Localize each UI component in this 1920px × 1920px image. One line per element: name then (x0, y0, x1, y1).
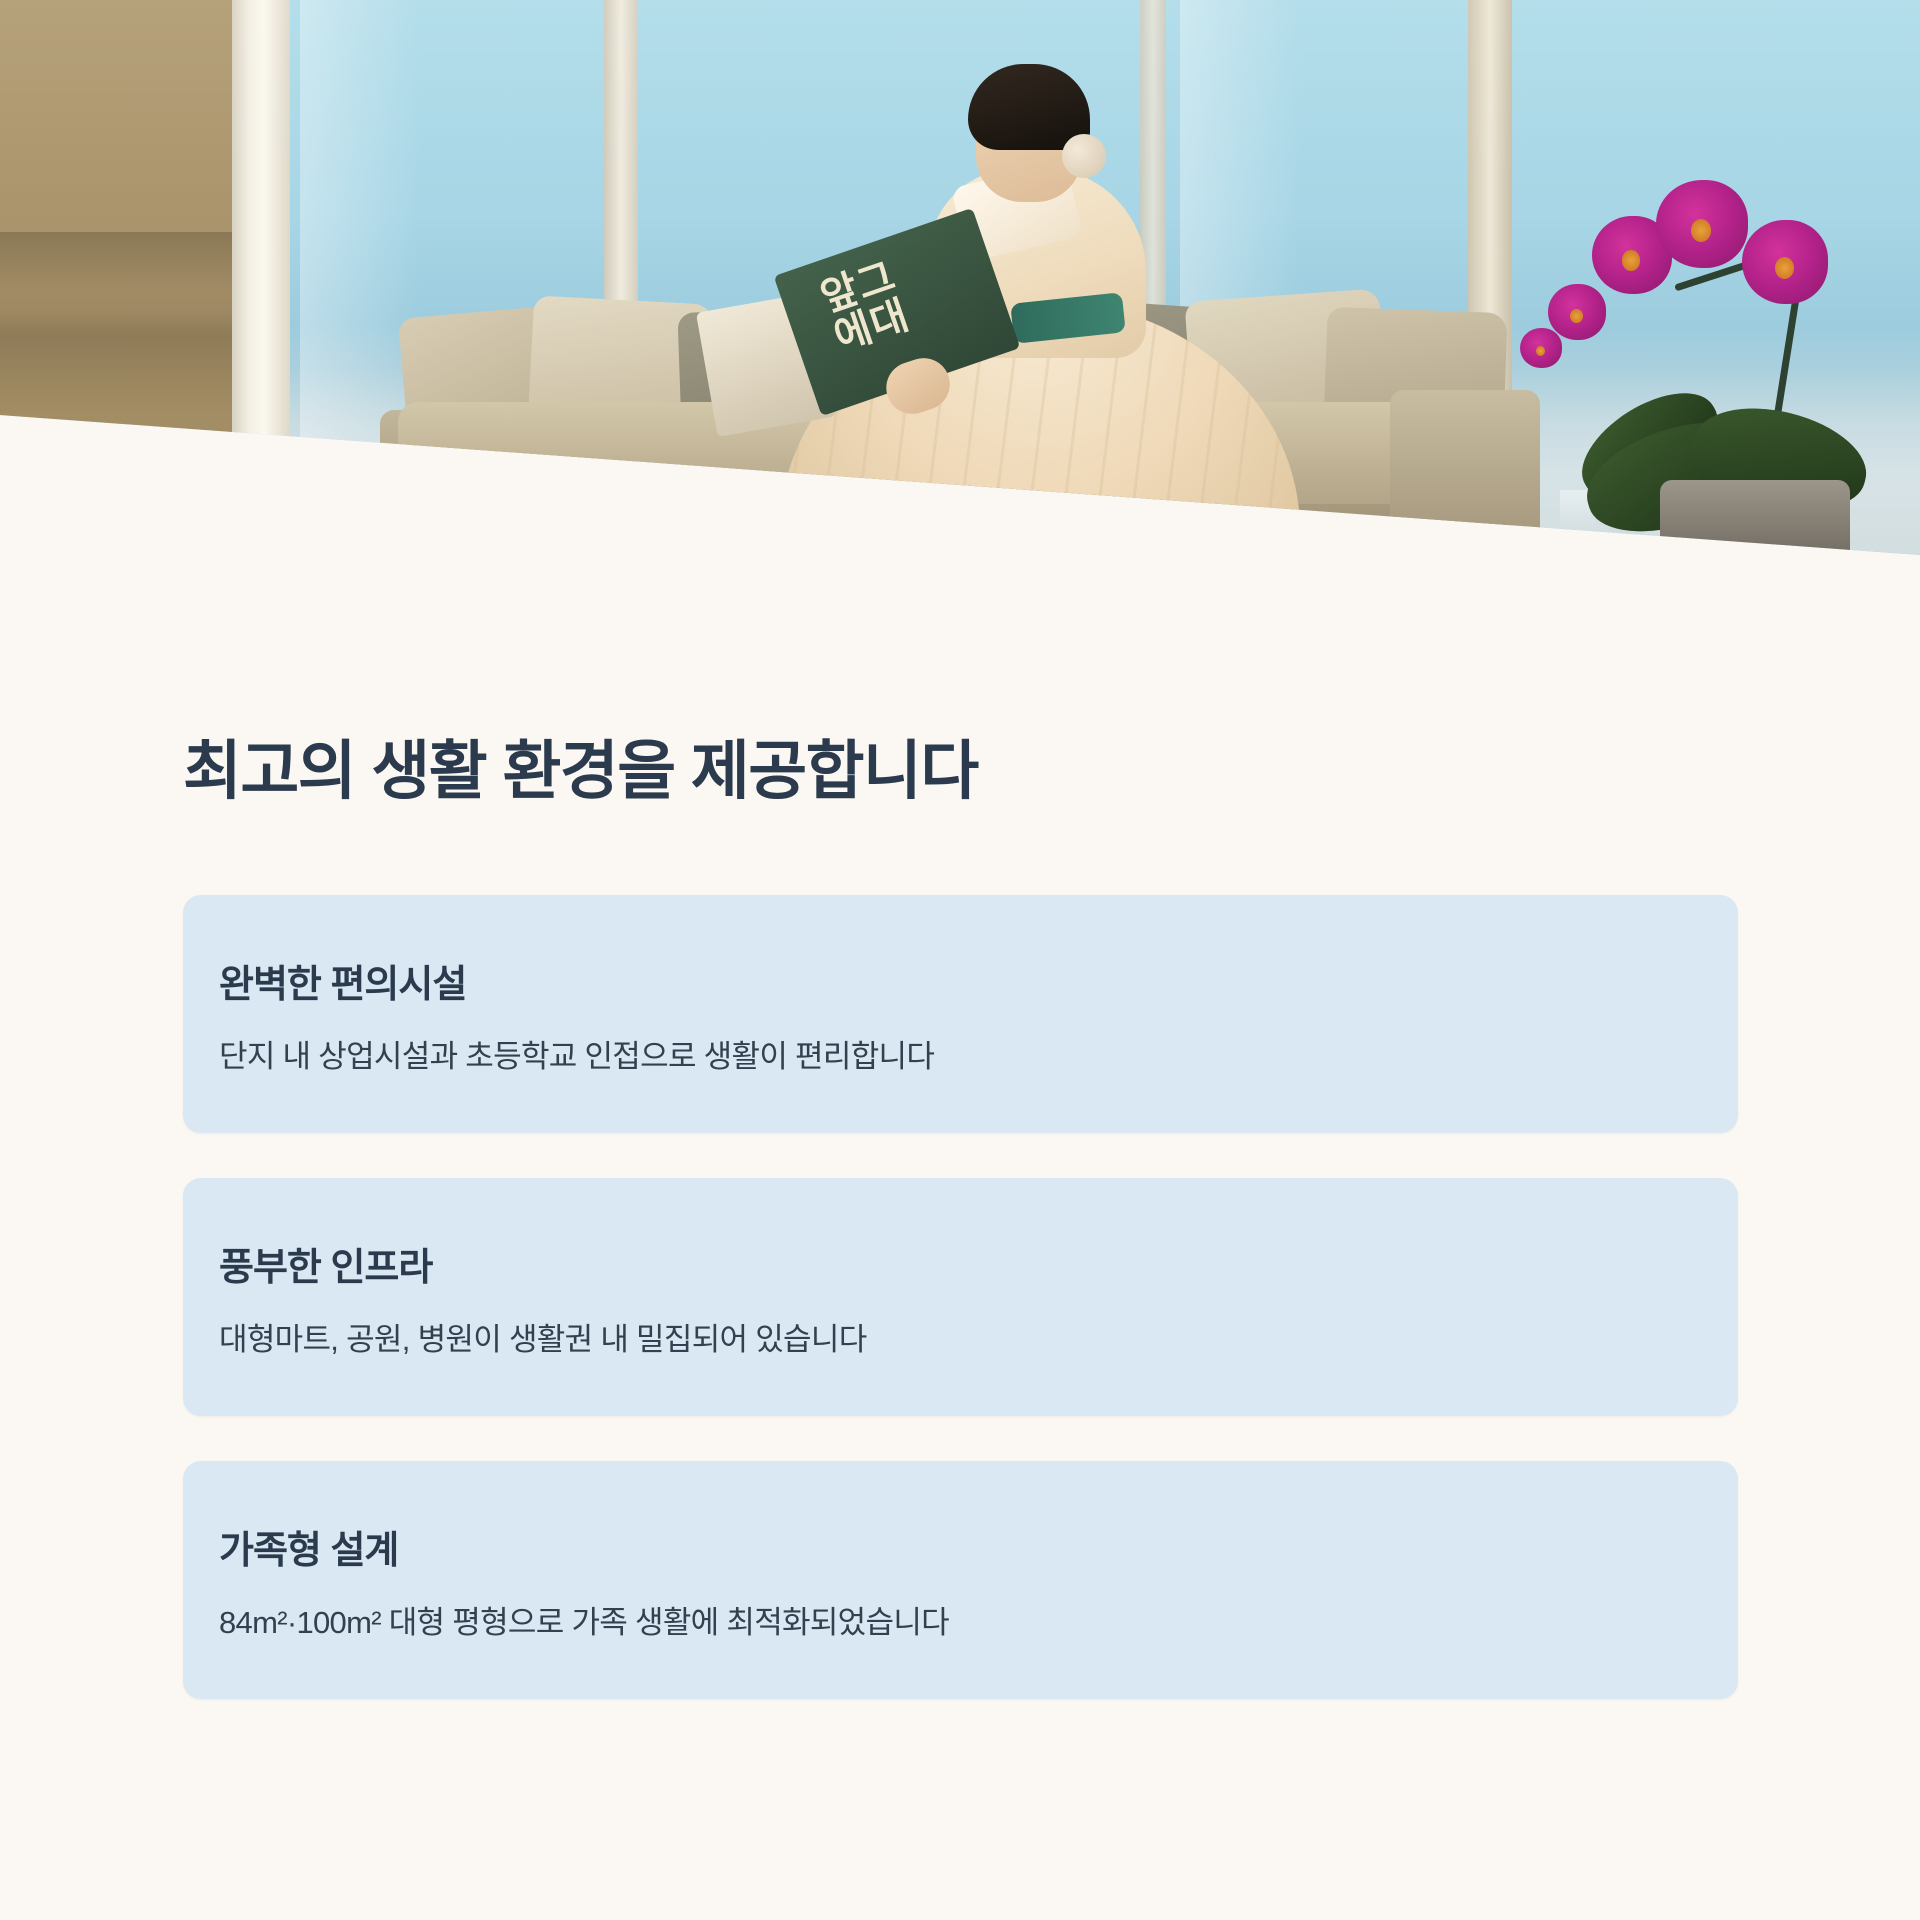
hero-photo: 그대 앞에 (0, 0, 1920, 560)
feature-card-description: 84m²·100m² 대형 평형으로 가족 생활에 최적화되었습니다 (219, 1597, 949, 1642)
feature-card[interactable]: 완벽한 편의시설 단지 내 상업시설과 초등학교 인접으로 생활이 편리합니다 (183, 895, 1738, 1133)
hero-image: 그대 앞에 (0, 0, 1920, 560)
interior-wall (0, 0, 232, 560)
orchid-bloom (1520, 328, 1562, 368)
feature-card-description: 단지 내 상업시설과 초등학교 인접으로 생활이 편리합니다 (219, 1031, 934, 1076)
feature-card-description: 대형마트, 공원, 병원이 생활권 내 밀집되어 있습니다 (219, 1314, 867, 1359)
orchid-plant (1430, 160, 1910, 560)
orchid-bloom (1548, 284, 1606, 340)
feature-card-title: 완벽한 편의시설 (219, 953, 466, 1008)
feature-card-title: 풍부한 인프라 (219, 1236, 432, 1291)
page-title: 최고의 생활 환경을 제공합니다 (183, 720, 978, 812)
orchid-bloom (1656, 180, 1748, 268)
feature-card-list: 완벽한 편의시설 단지 내 상업시설과 초등학교 인접으로 생활이 편리합니다 … (183, 895, 1738, 1699)
feature-card-title: 가족형 설계 (219, 1519, 398, 1574)
feature-card[interactable]: 풍부한 인프라 대형마트, 공원, 병원이 생활권 내 밀집되어 있습니다 (183, 1178, 1738, 1416)
window-mullion (232, 0, 290, 560)
woman-reading: 그대 앞에 (780, 100, 1300, 560)
hair-ornament (1062, 134, 1106, 178)
orchid-bloom (1742, 220, 1828, 304)
feature-card[interactable]: 가족형 설계 84m²·100m² 대형 평형으로 가족 생활에 최적화되었습니… (183, 1461, 1738, 1699)
plant-pot (1660, 480, 1850, 560)
